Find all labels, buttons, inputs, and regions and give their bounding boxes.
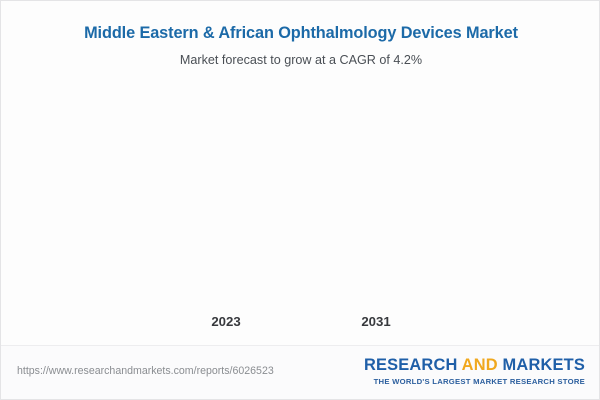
footer: https://www.researchandmarkets.com/repor… [1, 345, 600, 399]
report-url[interactable]: https://www.researchandmarkets.com/repor… [17, 365, 274, 377]
logo-word-and: AND [462, 356, 498, 374]
brand-logo[interactable]: RESEARCH AND MARKETS THE WORLD'S LARGEST… [364, 356, 585, 387]
logo-word-research: RESEARCH [364, 356, 462, 374]
logo-wordmark: RESEARCH AND MARKETS [364, 356, 585, 375]
chart-plot-area: USD 2.18 Billion USD 3.03 Billion [1, 1, 600, 346]
infographic-card: Middle Eastern & African Ophthalmology D… [0, 0, 600, 400]
x-axis-tick-2023: 2023 [176, 314, 276, 329]
x-axis-labels: 2023 2031 [1, 314, 600, 336]
logo-word-markets: MARKETS [498, 356, 585, 374]
x-axis-tick-2031: 2031 [326, 314, 426, 329]
logo-tagline: THE WORLD'S LARGEST MARKET RESEARCH STOR… [364, 376, 585, 387]
